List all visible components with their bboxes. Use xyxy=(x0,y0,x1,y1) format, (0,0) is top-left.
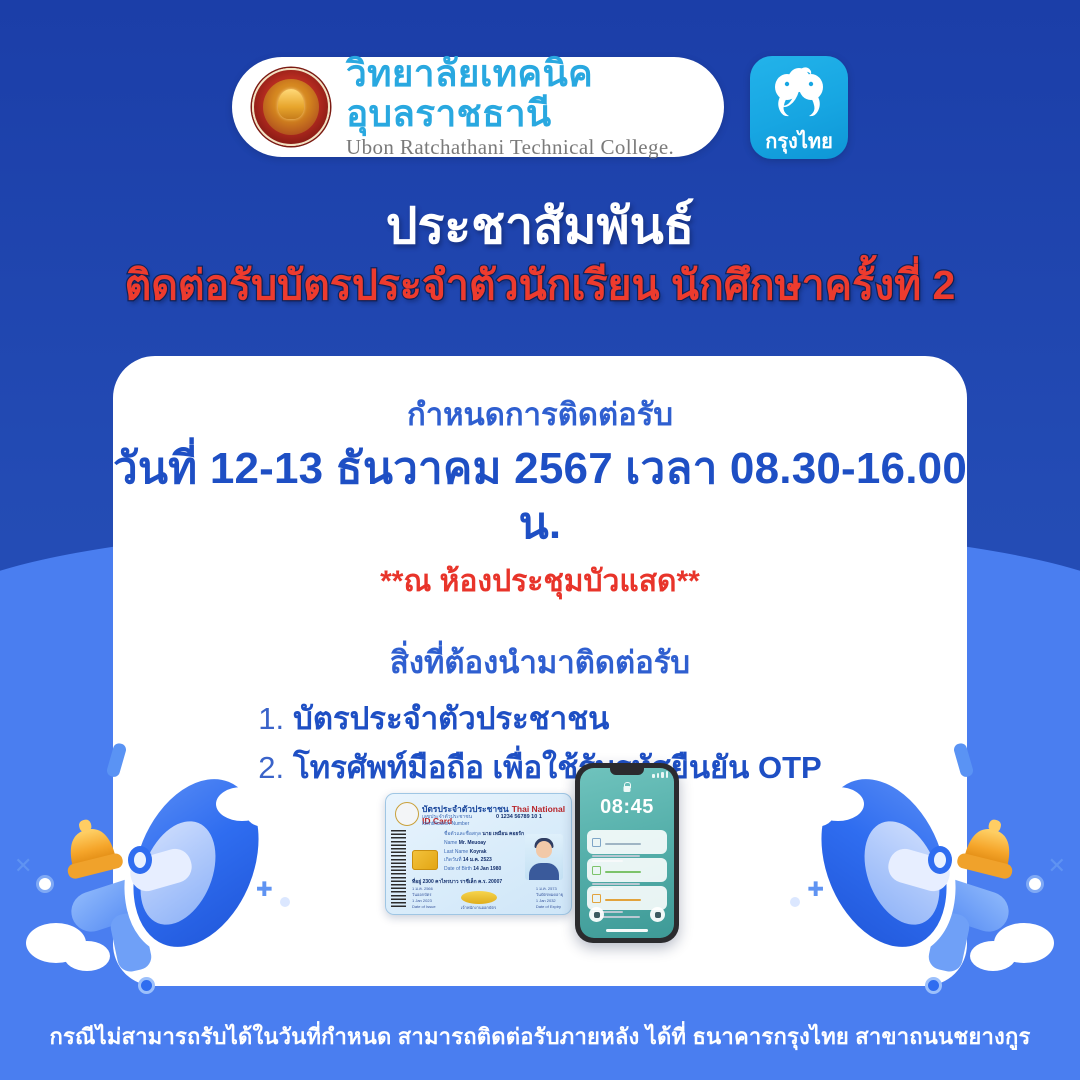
id-photo-portrait xyxy=(525,834,563,880)
id-expiry-block: 1 ม.ค. 2573 วันบัตรหมดอายุ 1 Jan 2032 Da… xyxy=(536,886,563,910)
name-label-en: Name xyxy=(444,840,457,846)
thai-national-id-card-illustration: บัตรประจำตัวประชาชนThai National ID Card… xyxy=(385,793,572,915)
id-card-fields: ชื่อตัวและชื่อสกุล นาย เหมือน คอยรัก Nam… xyxy=(444,830,524,874)
headline-primary: ประชาสัมพันธ์ xyxy=(0,198,1080,254)
lastname-value-en: Koyrak xyxy=(470,849,487,855)
list-item: 1.บัตรประจำตัวประชาชน xyxy=(258,695,821,744)
barcode-icon xyxy=(391,830,406,908)
college-logo-pill: วิทยาลัยเทคนิคอุบลราชธานี Ubon Ratchatha… xyxy=(232,57,724,157)
phone-screen: 08:45 xyxy=(580,768,674,938)
issue-label-th: วันออกบัตร xyxy=(412,892,432,897)
notification-card xyxy=(587,858,667,882)
notification-title-bar xyxy=(605,871,641,874)
issue-label-en: Date of Issue xyxy=(412,904,436,909)
chip-icon xyxy=(412,850,438,870)
id-signature-seal: เจ้าพนักงานออกบัตร xyxy=(461,891,497,911)
notification-app-icon xyxy=(592,866,601,875)
schedule-value: วันที่ 12-13 ธันวาคม 2567 เวลา 08.30-16.… xyxy=(113,441,967,551)
bring-label: สิ่งที่ต้องนำมาติดต่อรับ xyxy=(113,644,967,683)
bring-list: 1.บัตรประจำตัวประชาชน 2.โทรศัพท์มือถือ เ… xyxy=(258,695,821,793)
name-label-th: ชื่อตัวและชื่อสกุล xyxy=(444,831,481,837)
venue-text: **ณ ห้องประชุมบัวแสด** xyxy=(113,563,967,601)
dob-label-th: เกิดวันที่ xyxy=(444,857,462,863)
notification-title-bar xyxy=(605,843,641,846)
college-name-block: วิทยาลัยเทคนิคอุบลราชธานี Ubon Ratchatha… xyxy=(346,54,710,159)
list-item-label: โทรศัพท์มือถือ เพื่อใช้รับรหัสยืนยัน OTP xyxy=(293,750,822,785)
lock-icon xyxy=(624,786,631,792)
expiry-date-en: 1 Jan 2032 xyxy=(536,898,556,903)
krungthai-label: กรุงไทย xyxy=(765,132,833,152)
expiry-label-th: วันบัตรหมดอายุ xyxy=(536,892,563,897)
headline-secondary: ติดต่อรับบัตรประจำตัวนักเรียน นักศึกษาคร… xyxy=(0,262,1080,309)
dob-value-en: 14 Jan 1980 xyxy=(473,866,501,872)
id-number-label: เลขประจำตัวประชาชน Identification Number xyxy=(422,814,472,829)
phone-notch xyxy=(610,768,644,775)
footer-note: กรณีไม่สามารถรับได้ในวันที่กำหนด สามารถต… xyxy=(0,1019,1080,1054)
college-name-en: Ubon Ratchathani Technical College. xyxy=(346,135,710,159)
college-seal-icon xyxy=(252,68,330,146)
expiry-label-en: Date of Expiry xyxy=(536,904,561,909)
name-value-en: Mr. Meuoay xyxy=(459,840,486,846)
notification-app-icon xyxy=(592,894,601,903)
header-logos: วิทยาลัยเทคนิคอุบลราชธานี Ubon Ratchatha… xyxy=(0,52,1080,162)
mobile-phone-illustration: 08:45 xyxy=(575,763,679,943)
id-issue-block: 1 ม.ค. 2566 วันออกบัตร 1 Jan 2023 Date o… xyxy=(412,886,436,910)
expiry-date-th: 1 ม.ค. 2573 xyxy=(536,886,557,891)
college-name-th: วิทยาลัยเทคนิคอุบลราชธานี xyxy=(346,54,710,134)
id-number-label-th: เลขประจำตัวประชาชน xyxy=(422,814,472,820)
lockscreen-clock: 08:45 xyxy=(580,796,674,819)
krungthai-bank-logo: กรุงไทย xyxy=(750,56,848,159)
id-number-value: 0 1234 56789 10 1 xyxy=(496,814,542,820)
id-card-title-th: บัตรประจำตัวประชาชน xyxy=(422,804,509,814)
dob-value-th: 14 ม.ค. 2523 xyxy=(463,857,492,863)
headline-block: ประชาสัมพันธ์ ติดต่อรับบัตรประจำตัวนักเร… xyxy=(0,198,1080,309)
home-indicator xyxy=(606,929,648,932)
status-bar-icons xyxy=(652,771,668,778)
list-item-number: 1. xyxy=(258,701,284,736)
camera-button xyxy=(650,907,665,922)
notification-text-bar xyxy=(592,855,640,857)
schedule-label: กำหนดการติดต่อรับ xyxy=(113,396,967,435)
flashlight-button xyxy=(589,907,604,922)
signature-caption: เจ้าพนักงานออกบัตร xyxy=(461,904,497,911)
announcement-poster: วิทยาลัยเทคนิคอุบลราชธานี Ubon Ratchatha… xyxy=(0,0,1080,1080)
seal-blob-icon xyxy=(461,891,497,904)
id-number-label-en: Identification Number xyxy=(422,821,469,827)
krungthai-elephants-icon xyxy=(750,65,848,125)
notification-title-bar xyxy=(605,899,641,902)
dob-label-en: Date of Birth xyxy=(444,866,472,872)
list-item-number: 2. xyxy=(258,750,284,785)
lastname-label-en: Last Name xyxy=(444,849,468,855)
list-item-label: บัตรประจำตัวประชาชน xyxy=(293,701,609,736)
issue-date-th: 1 ม.ค. 2566 xyxy=(412,886,433,891)
notification-card xyxy=(587,830,667,854)
notification-app-icon xyxy=(592,838,601,847)
list-item: 2.โทรศัพท์มือถือ เพื่อใช้รับรหัสยืนยัน O… xyxy=(258,744,821,793)
name-value-th: นาย เหมือน คอยรัก xyxy=(482,831,524,837)
id-address: ที่อยู่ 2300 คาไทรบาว ราชีเล็ก ค.ร. 2000… xyxy=(412,878,502,886)
notification-text-bar xyxy=(592,883,640,885)
portrait-body xyxy=(529,863,559,880)
portrait-head xyxy=(536,841,552,858)
garuda-emblem-icon xyxy=(395,802,419,826)
issue-date-en: 1 Jan 2023 xyxy=(412,898,432,903)
